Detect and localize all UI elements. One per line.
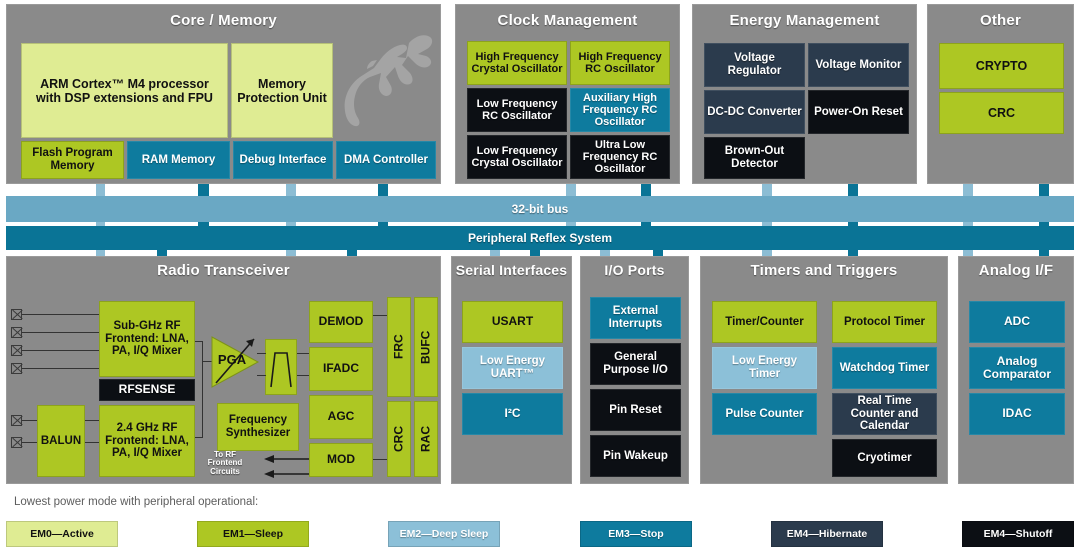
legend-item-em3[interactable]: EM3—Stop xyxy=(580,521,692,547)
block-cryotimer[interactable]: Cryotimer xyxy=(832,439,937,477)
block-arm-cortex-m4[interactable]: ARM Cortex™ M4 processor with DSP extens… xyxy=(21,43,228,138)
pga-label: PGA xyxy=(212,353,252,367)
block-2-4-ghz-rf-frontend[interactable]: 2.4 GHz RF Frontend: LNA, PA, I/Q Mixer xyxy=(99,405,195,477)
block-usart[interactable]: USART xyxy=(462,301,563,343)
panel-title-serial-interfaces: Serial Interfaces xyxy=(452,263,571,279)
block-watchdog-timer[interactable]: Watchdog Timer xyxy=(832,347,937,389)
rf-wire-3 xyxy=(22,350,99,351)
bandpass-filter-icon xyxy=(267,343,295,391)
block-hf-crystal-oscillator[interactable]: High Frequency Crystal Oscillator xyxy=(467,41,567,85)
block-ram-memory[interactable]: RAM Memory xyxy=(127,141,230,179)
legend-item-em4-shutoff[interactable]: EM4—Shutoff xyxy=(962,521,1074,547)
panel-title-energy-management: Energy Management xyxy=(693,13,916,30)
legend-item-em2[interactable]: EM2—Deep Sleep xyxy=(388,521,500,547)
block-pulse-counter[interactable]: Pulse Counter xyxy=(712,393,817,435)
rf-wire-pga-filter-b xyxy=(257,375,266,376)
block-rac[interactable]: RAC xyxy=(414,401,438,477)
bus-32-bit: 32-bit bus xyxy=(6,196,1074,222)
block-general-purpose-io[interactable]: General Purpose I/O xyxy=(590,343,681,385)
panel-io-ports: I/O Ports External Interrupts General Pu… xyxy=(580,256,689,484)
block-diagram-canvas: Core / Memory ARM Cortex™ M4 processor w… xyxy=(0,0,1080,553)
block-crypto[interactable]: CRYPTO xyxy=(939,43,1064,89)
block-real-time-counter-and-calendar[interactable]: Real Time Counter and Calendar xyxy=(832,393,937,435)
rf-wire-4 xyxy=(22,368,99,369)
rf-bracket-vert xyxy=(202,341,203,438)
rf-pin-5 xyxy=(11,415,22,426)
rf-wire-6 xyxy=(22,442,37,443)
block-rfsense[interactable]: RFSENSE xyxy=(99,379,195,401)
bus-prs-label: Peripheral Reflex System xyxy=(468,231,612,245)
block-frequency-synthesizer[interactable]: Frequency Synthesizer xyxy=(217,403,299,451)
block-hf-rc-oscillator[interactable]: High Frequency RC Oscillator xyxy=(570,41,670,85)
block-memory-protection-unit[interactable]: Memory Protection Unit xyxy=(231,43,333,138)
rf-wire-demod-frc xyxy=(373,315,388,316)
panel-timers-and-triggers: Timers and Triggers Timer/Counter Protoc… xyxy=(700,256,948,484)
panel-clock-management: Clock Management High Frequency Crystal … xyxy=(455,4,680,184)
block-debug-interface[interactable]: Debug Interface xyxy=(233,141,333,179)
block-timer-counter[interactable]: Timer/Counter xyxy=(712,301,817,343)
bus-peripheral-reflex-system: Peripheral Reflex System xyxy=(6,226,1074,250)
panel-title-other: Other xyxy=(928,13,1073,30)
block-balun[interactable]: BALUN xyxy=(37,405,85,477)
block-demod[interactable]: DEMOD xyxy=(309,301,373,343)
block-lf-rc-oscillator[interactable]: Low Frequency RC Oscillator xyxy=(467,88,567,132)
rf-wire-mod-crc xyxy=(373,459,388,460)
panel-title-core-memory: Core / Memory xyxy=(7,13,440,30)
rf-wire-1 xyxy=(22,314,99,315)
rf-pin-6 xyxy=(11,437,22,448)
legend-item-em1[interactable]: EM1—Sleep xyxy=(197,521,309,547)
block-dma-controller[interactable]: DMA Controller xyxy=(336,141,436,179)
block-idac[interactable]: IDAC xyxy=(969,393,1065,435)
block-ifadc[interactable]: IFADC xyxy=(309,347,373,391)
rf-wire-filter-ifadc-a xyxy=(297,353,309,354)
block-power-on-reset[interactable]: Power-On Reset xyxy=(808,90,909,134)
rf-pin-3 xyxy=(11,345,22,356)
rf-wire-pga-filter-a xyxy=(257,353,266,354)
rf-wire-2 xyxy=(22,332,99,333)
panel-title-timers-and-triggers: Timers and Triggers xyxy=(701,263,947,280)
block-protocol-timer[interactable]: Protocol Timer xyxy=(832,301,937,343)
rf-wire-filter-ifadc-b xyxy=(297,375,309,376)
block-i2c[interactable]: I²C xyxy=(462,393,563,435)
panel-title-clock-management: Clock Management xyxy=(456,13,679,30)
block-lf-crystal-oscillator[interactable]: Low Frequency Crystal Oscillator xyxy=(467,135,567,179)
gecko-logo-icon xyxy=(339,31,443,143)
block-voltage-regulator[interactable]: Voltage Regulator xyxy=(704,43,805,87)
legend-item-em4-hibernate[interactable]: EM4—Hibernate xyxy=(771,521,883,547)
block-low-energy-timer[interactable]: Low Energy Timer xyxy=(712,347,817,389)
panel-title-analog-if: Analog I/F xyxy=(959,263,1073,280)
block-auxiliary-hf-rc-oscillator[interactable]: Auxiliary High Frequency RC Oscillator xyxy=(570,88,670,132)
block-brown-out-detector[interactable]: Brown-Out Detector xyxy=(704,137,805,179)
block-mod[interactable]: MOD xyxy=(309,443,373,477)
panel-radio-transceiver: Radio Transceiver Sub-GHz RF Frontend: L… xyxy=(6,256,441,484)
block-crc-other[interactable]: CRC xyxy=(939,92,1064,134)
block-crc-radio[interactable]: CRC xyxy=(387,401,411,477)
legend-caption: Lowest power mode with peripheral operat… xyxy=(14,496,258,508)
panel-title-radio-transceiver: Radio Transceiver xyxy=(7,263,440,280)
block-voltage-monitor[interactable]: Voltage Monitor xyxy=(808,43,909,87)
block-sub-ghz-rf-frontend[interactable]: Sub-GHz RF Frontend: LNA, PA, I/Q Mixer xyxy=(99,301,195,377)
panel-serial-interfaces: Serial Interfaces USART Low Energy UART™… xyxy=(451,256,572,484)
block-external-interrupts[interactable]: External Interrupts xyxy=(590,297,681,339)
legend-item-em0[interactable]: EM0—Active xyxy=(6,521,118,547)
rf-pin-4 xyxy=(11,363,22,374)
panel-title-io-ports: I/O Ports xyxy=(581,263,688,279)
bus-32-bit-label: 32-bit bus xyxy=(512,202,569,216)
panel-energy-management: Energy Management Voltage Regulator Volt… xyxy=(692,4,917,184)
block-pin-reset[interactable]: Pin Reset xyxy=(590,389,681,431)
block-ulf-rc-oscillator[interactable]: Ultra Low Frequency RC Oscillator xyxy=(570,135,670,179)
rf-wire-5 xyxy=(22,420,37,421)
panel-analog-if: Analog I/F ADC Analog Comparator IDAC xyxy=(958,256,1074,484)
rf-pin-1 xyxy=(11,309,22,320)
rf-frontend-annotation: To RF Frontend Circuits xyxy=(197,451,253,476)
block-pin-wakeup[interactable]: Pin Wakeup xyxy=(590,435,681,477)
block-bufc[interactable]: BUFC xyxy=(414,297,438,397)
block-frc[interactable]: FRC xyxy=(387,297,411,397)
block-low-energy-uart[interactable]: Low Energy UART™ xyxy=(462,347,563,389)
block-flash-program-memory[interactable]: Flash Program Memory xyxy=(21,141,124,179)
block-adc[interactable]: ADC xyxy=(969,301,1065,343)
block-dc-dc-converter[interactable]: DC-DC Converter xyxy=(704,90,805,134)
panel-other: Other CRYPTO CRC xyxy=(927,4,1074,184)
panel-core-memory: Core / Memory ARM Cortex™ M4 processor w… xyxy=(6,4,441,184)
block-agc[interactable]: AGC xyxy=(309,395,373,439)
rf-pin-2 xyxy=(11,327,22,338)
block-analog-comparator[interactable]: Analog Comparator xyxy=(969,347,1065,389)
